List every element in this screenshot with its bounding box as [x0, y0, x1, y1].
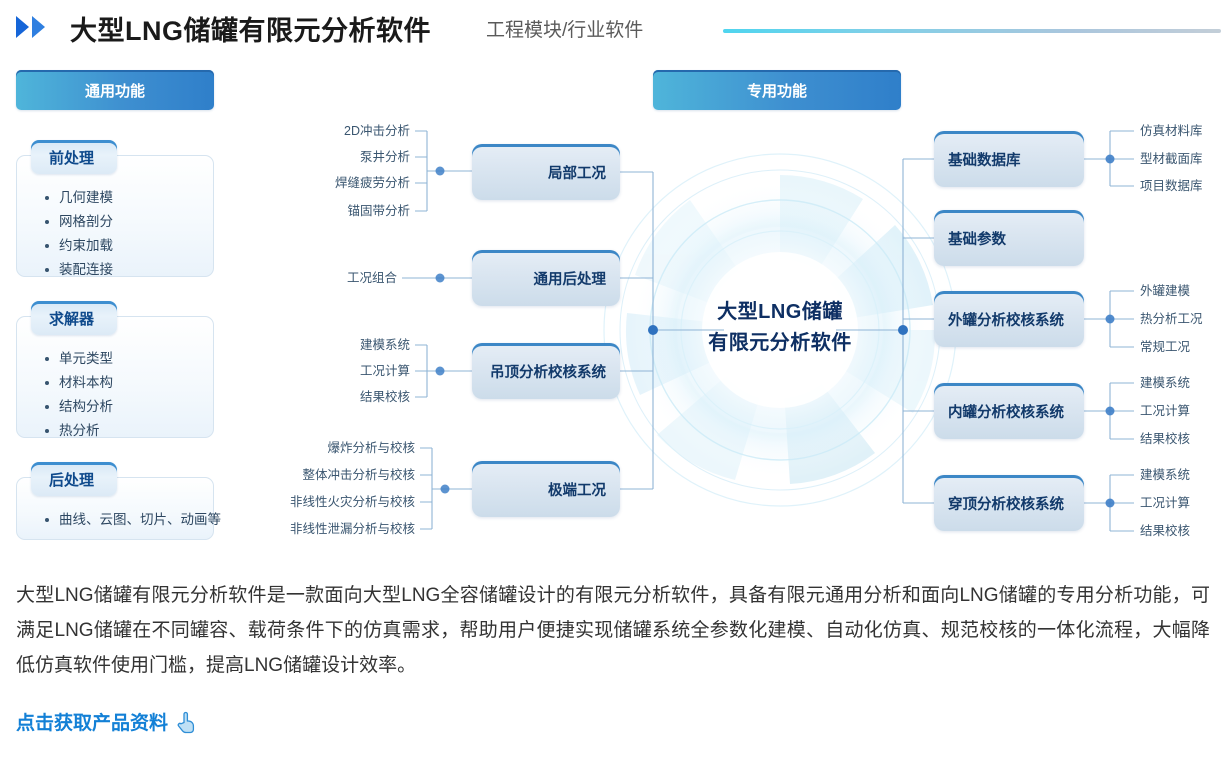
leaf-label: 项目数据库 — [1140, 179, 1203, 193]
leaf-label: 外罐建模 — [1140, 284, 1190, 298]
list-item: 材料本构 — [43, 371, 113, 395]
node-box-base-database[interactable]: 基础数据库 — [934, 131, 1084, 187]
leaf-label: 非线性火灾分析与校核 — [238, 495, 415, 509]
list-item: 热分析 — [43, 419, 113, 443]
node-box-dome-system[interactable]: 穿顶分析校核系统 — [934, 475, 1084, 531]
leaf-label: 工况计算 — [1140, 496, 1190, 510]
leaf-label: 工况计算 — [1140, 404, 1190, 418]
leaf-label: 热分析工况 — [1140, 312, 1203, 326]
panel-list-preprocessing: 几何建模 网格剖分 约束加载 装配连接 — [43, 186, 113, 282]
page-root: 大型LNG储罐有限元分析软件 工程模块/行业软件 通用功能 专用功能 前处理 几… — [0, 0, 1226, 776]
panel-list-solver: 单元类型 材料本构 结构分析 热分析 — [43, 347, 113, 443]
get-product-info-link[interactable]: 点击获取产品资料 — [16, 708, 198, 735]
product-description: 大型LNG储罐有限元分析软件是一款面向大型LNG全容储罐设计的有限元分析软件，具… — [16, 578, 1210, 683]
click-hand-icon — [176, 710, 198, 734]
leaf-label: 锚固带分析 — [258, 204, 410, 218]
center-title: 大型LNG储罐 有限元分析软件 — [660, 297, 900, 359]
leaf-label: 工况组合 — [258, 271, 397, 285]
node-box-general-postprocessing[interactable]: 通用后处理 — [472, 250, 620, 306]
leaf-label: 建模系统 — [1140, 376, 1190, 390]
panel-title-preprocessing: 前处理 — [31, 140, 117, 174]
node-box-inner-tank-system[interactable]: 内罐分析校核系统 — [934, 383, 1084, 439]
leaf-label: 工况计算 — [258, 364, 410, 378]
leaf-label: 结果校核 — [1140, 432, 1190, 446]
leaf-label: 常规工况 — [1140, 340, 1190, 354]
cta-label: 点击获取产品资料 — [16, 708, 168, 735]
leaf-label: 建模系统 — [1140, 468, 1190, 482]
list-item: 曲线、云图、切片、动画等 — [43, 508, 221, 532]
leaf-label: 2D冲击分析 — [258, 124, 410, 138]
panel-preprocessing: 前处理 几何建模 网格剖分 约束加载 装配连接 — [16, 155, 214, 277]
banner-special-functions: 专用功能 — [653, 70, 901, 110]
page-header: 大型LNG储罐有限元分析软件 工程模块/行业软件 — [0, 0, 1226, 56]
page-title: 大型LNG储罐有限元分析软件 — [70, 9, 431, 48]
banner-general-functions: 通用功能 — [16, 70, 214, 110]
node-box-suspended-deck-system[interactable]: 吊顶分析校核系统 — [472, 343, 620, 399]
leaf-label: 泵井分析 — [258, 150, 410, 164]
node-box-local-conditions[interactable]: 局部工况 — [472, 144, 620, 200]
leaf-label: 型材截面库 — [1140, 152, 1203, 166]
double-triangle-icon — [16, 16, 45, 38]
panel-title-postprocessing: 后处理 — [31, 462, 117, 496]
leaf-label: 结果校核 — [258, 390, 410, 404]
center-title-line1: 大型LNG储罐 — [660, 297, 900, 328]
list-item: 网格剖分 — [43, 210, 113, 234]
page-subtitle: 工程模块/行业软件 — [486, 15, 643, 42]
node-box-extreme-conditions[interactable]: 极端工况 — [472, 461, 620, 517]
node-box-base-parameters[interactable]: 基础参数 — [934, 210, 1084, 266]
list-item: 结构分析 — [43, 395, 113, 419]
leaf-label: 非线性泄漏分析与校核 — [238, 522, 415, 536]
center-title-line2: 有限元分析软件 — [660, 328, 900, 359]
list-item: 约束加载 — [43, 234, 113, 258]
leaf-label: 建模系统 — [258, 338, 410, 352]
list-item: 几何建模 — [43, 186, 113, 210]
panel-list-postprocessing: 曲线、云图、切片、动画等 — [43, 508, 221, 532]
header-divider-rule — [723, 29, 1221, 33]
leaf-label: 爆炸分析与校核 — [238, 441, 415, 455]
leaf-label: 焊缝疲劳分析 — [258, 176, 410, 190]
panel-solver: 求解器 单元类型 材料本构 结构分析 热分析 — [16, 316, 214, 438]
list-item: 单元类型 — [43, 347, 113, 371]
leaf-label: 结果校核 — [1140, 524, 1190, 538]
list-item: 装配连接 — [43, 258, 113, 282]
node-box-outer-tank-system[interactable]: 外罐分析校核系统 — [934, 291, 1084, 347]
leaf-label: 仿真材料库 — [1140, 124, 1203, 138]
panel-postprocessing: 后处理 曲线、云图、切片、动画等 — [16, 477, 214, 540]
panel-title-solver: 求解器 — [31, 301, 117, 335]
leaf-label: 整体冲击分析与校核 — [238, 468, 415, 482]
